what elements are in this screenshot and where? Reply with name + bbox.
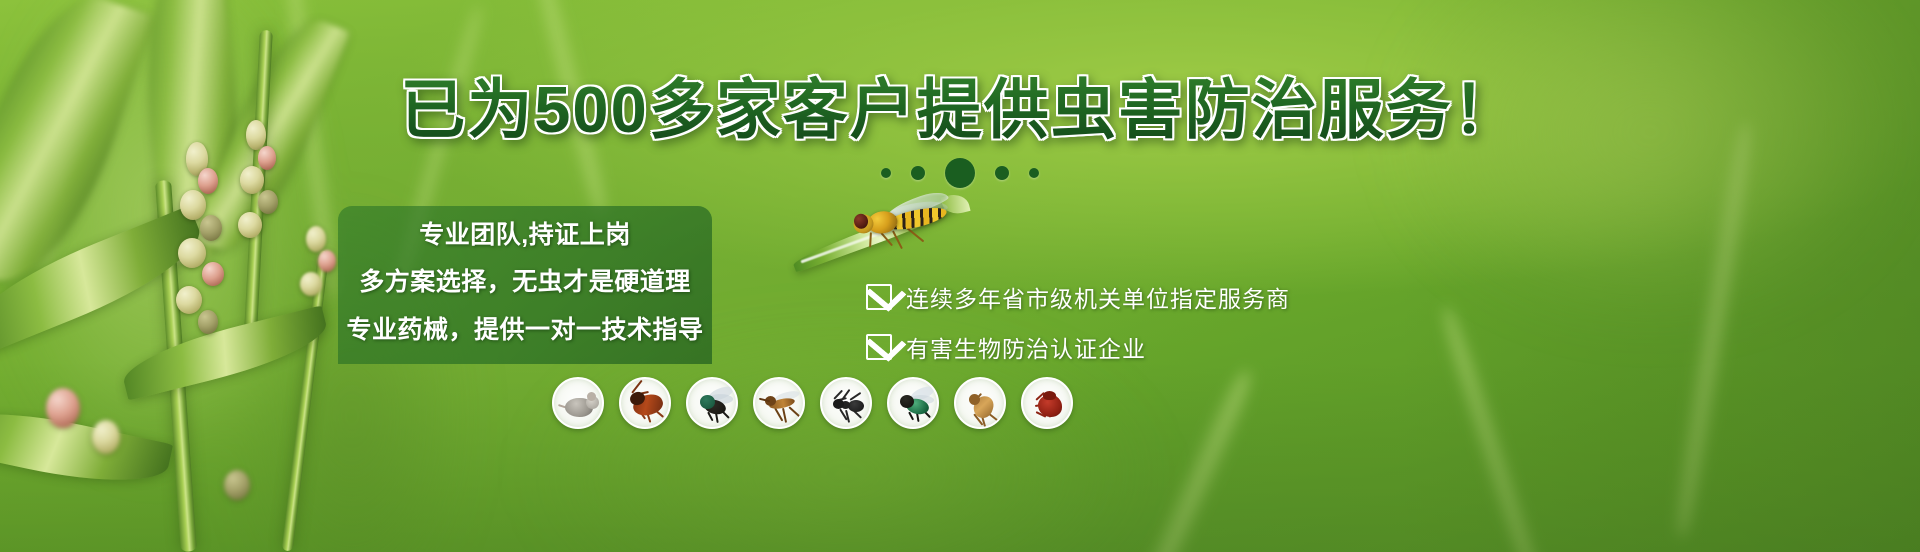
divider-dot-small-left [881,168,891,178]
credentials-list: 连续多年省市级机关单位指定服务商 有害生物防治认证企业 [866,272,1296,372]
plant-bud [176,286,202,314]
features-panel-line-2: 多方案选择，无虫才是硬道理 [338,258,712,306]
promo-banner: 已为500多家客户提供虫害防治服务！ 专业团队,持证上岗 多方案选择，无虫才是硬… [0,0,1920,552]
bedbug-icon [1021,377,1073,429]
cockroach-icon [619,377,671,429]
plant-bud [258,190,278,214]
plant-bud [238,212,262,238]
plant-bud [180,190,206,220]
features-panel: 专业团队,持证上岗 多方案选择，无虫才是硬道理 专业药械，提供一对一技术指导 [338,206,712,364]
plant-bud [224,470,250,500]
features-panel-line-1: 专业团队,持证上岗 [338,212,712,258]
pest-icon-row [552,377,1073,429]
divider-dot-medium-left [911,166,925,180]
mouse-icon [552,377,604,429]
credential-text: 有害生物防治认证企业 [906,330,1146,364]
list-item: 有害生物防治认证企业 [866,322,1296,372]
list-item: 连续多年省市级机关单位指定服务商 [866,272,1296,322]
divider-dot-large [945,158,975,188]
divider-dot-medium-right [995,166,1009,180]
hoverfly-leg [869,232,872,247]
banner-headline: 已为500多家客户提供虫害防治服务！ [0,74,1920,146]
plant-bud [198,310,218,334]
hoverfly-leg [906,227,924,242]
flea-icon [954,377,1006,429]
decorative-dot-divider [0,158,1920,188]
blowfly-icon [887,377,939,429]
hoverfly-leg [880,232,893,246]
plant-bud [178,238,206,268]
hoverfly-leg [892,230,903,249]
credential-text: 连续多年省市级机关单位指定服务商 [906,280,1290,314]
fly-icon [686,377,738,429]
plant-leaf [0,397,173,498]
mosquito-icon [753,377,805,429]
plant-bud [92,420,120,454]
plant-bud [202,262,224,286]
plant-bud [318,250,336,272]
plant-stem [282,250,330,551]
plant-bud [46,388,80,428]
plant-leaf [118,305,333,400]
divider-dot-small-right [1029,168,1039,178]
checkbox-checked-icon [866,334,892,360]
ant-icon [820,377,872,429]
checkbox-checked-icon [866,284,892,310]
plant-bud [306,226,326,252]
plant-bud [200,215,222,241]
plant-bud [300,272,322,296]
features-panel-line-3: 专业药械，提供一对一技术指导 [338,306,712,354]
